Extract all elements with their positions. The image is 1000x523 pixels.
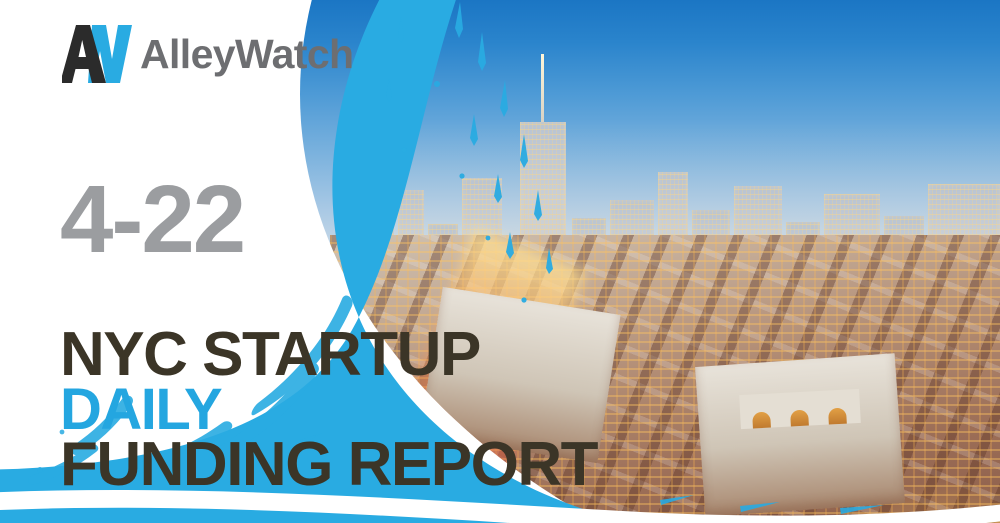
report-date: 4-22: [60, 172, 244, 268]
funding-report-banner: AlleyWatch 4-22 NYC STARTUP DAILY FUNDIN…: [0, 0, 1000, 523]
alleywatch-wordmark: AlleyWatch: [140, 31, 353, 78]
headline-line-2: DAILY: [60, 383, 597, 436]
rooftop-block: [695, 353, 905, 517]
headline-line-1: NYC STARTUP: [60, 326, 597, 383]
aw-monogram-icon: [62, 23, 138, 85]
headline-block: NYC STARTUP DAILY FUNDING REPORT: [60, 326, 597, 493]
arched-building-facade: [739, 389, 861, 429]
headline-line-3: FUNDING REPORT: [60, 436, 597, 493]
alleywatch-logo[interactable]: AlleyWatch: [62, 22, 353, 86]
wtc-spire: [541, 54, 544, 122]
